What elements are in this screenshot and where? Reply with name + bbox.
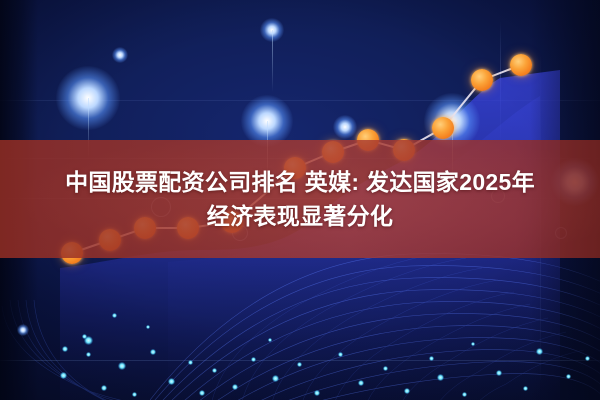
chart-data-point	[471, 69, 493, 91]
headline-text-block: 中国股票配资公司排名 英媒: 发达国家2025年 经济表现显著分化	[0, 140, 600, 258]
chart-data-point	[432, 117, 454, 139]
news-header-image: 中国股票配资公司排名 英媒: 发达国家2025年 经济表现显著分化	[0, 0, 600, 400]
headline-line-2: 经济表现显著分化	[207, 201, 393, 231]
chart-data-point	[510, 54, 532, 76]
headline-line-1: 中国股票配资公司排名 英媒: 发达国家2025年	[65, 167, 535, 197]
